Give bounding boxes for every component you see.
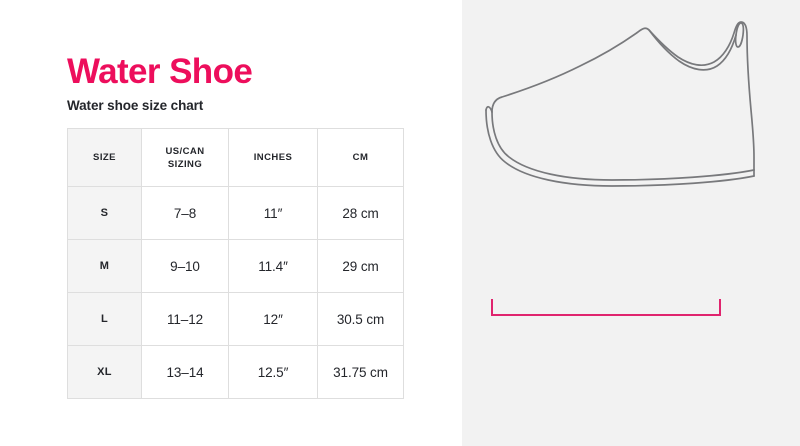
info-panel: Water Shoe Water shoe size chart SIZE US…	[0, 0, 462, 446]
column-header-us-can-line1: US/CAN	[165, 146, 204, 157]
table-header: SIZE US/CAN SIZING INCHES CM	[68, 129, 404, 187]
cell-size: M	[68, 240, 142, 293]
cell-cm: 31.75 cm	[318, 346, 404, 399]
size-chart-table: SIZE US/CAN SIZING INCHES CM S	[67, 128, 404, 399]
water-shoe-illustration	[462, 0, 800, 446]
column-header-cm: CM	[318, 129, 404, 187]
column-header-size: SIZE	[68, 129, 142, 187]
column-header-us-can-sizing: US/CAN SIZING	[142, 129, 229, 187]
measure-bracket-icon	[492, 300, 720, 315]
table-body: S 7–8 11″ 28 cm M 9–10 11.4″ 29 cm L 11–…	[68, 187, 404, 399]
cell-size: S	[68, 187, 142, 240]
cell-size: XL	[68, 346, 142, 399]
cell-cm: 29 cm	[318, 240, 404, 293]
cell-inches: 12″	[229, 293, 318, 346]
table-row: XL 13–14 12.5″ 31.75 cm	[68, 346, 404, 399]
page-subtitle: Water shoe size chart	[67, 96, 203, 115]
table-header-row: SIZE US/CAN SIZING INCHES CM	[68, 129, 404, 187]
table-row: M 9–10 11.4″ 29 cm	[68, 240, 404, 293]
cell-cm: 28 cm	[318, 187, 404, 240]
cell-inches: 12.5″	[229, 346, 318, 399]
column-header-inches: INCHES	[229, 129, 318, 187]
size-chart-page: Water Shoe Water shoe size chart SIZE US…	[0, 0, 800, 446]
cell-us-can: 7–8	[142, 187, 229, 240]
cell-us-can: 13–14	[142, 346, 229, 399]
column-header-us-can-line2: SIZING	[168, 159, 202, 170]
column-header-size-line1: SIZE	[93, 152, 116, 163]
shoe-outline-icon	[486, 22, 754, 186]
illustration-panel	[462, 0, 800, 446]
page-title: Water Shoe	[67, 51, 252, 92]
cell-inches: 11″	[229, 187, 318, 240]
table-row: L 11–12 12″ 30.5 cm	[68, 293, 404, 346]
column-header-inches-line1: INCHES	[254, 152, 293, 163]
cell-cm: 30.5 cm	[318, 293, 404, 346]
column-header-cm-line1: CM	[353, 152, 369, 163]
cell-inches: 11.4″	[229, 240, 318, 293]
cell-size: L	[68, 293, 142, 346]
table-row: S 7–8 11″ 28 cm	[68, 187, 404, 240]
cell-us-can: 9–10	[142, 240, 229, 293]
cell-us-can: 11–12	[142, 293, 229, 346]
